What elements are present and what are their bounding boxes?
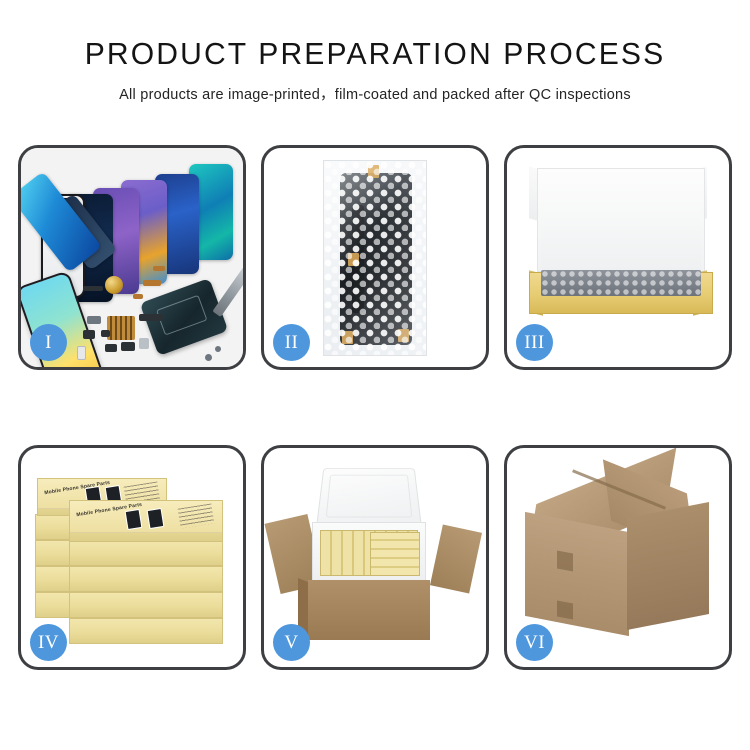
header: PRODUCT PREPARATION PROCESS All products… [0,0,750,104]
step-badge-4: IV [30,624,67,661]
logic-board-icon [107,316,135,340]
process-step-panel-1: I [18,145,246,370]
step-badge-1: I [30,324,67,361]
page-title: PRODUCT PREPARATION PROCESS [11,38,739,71]
stack-box-front-3 [69,566,223,592]
part-connector [133,294,143,299]
carton-flap-right [430,525,482,594]
stack-box-front-4 [69,592,223,618]
part-button [83,330,95,339]
step-6-illustration: VI [507,448,729,667]
box-top-face-front: Mobile Phone Spare Parts [70,501,222,533]
part-flex-cable [143,280,161,286]
process-step-panel-6: VI [504,445,732,670]
process-step-panel-2: II [261,145,489,370]
product-preparation-infographic: PRODUCT PREPARATION PROCESS All products… [0,0,750,750]
stack-box-front-5 [69,618,223,644]
part-antenna [153,266,165,271]
part-screw [205,354,212,361]
white-foam-sheet [541,210,701,272]
box-stack: Mobile Phone Spare Parts Mobile Phone Sp… [35,470,231,650]
foam-box-lid [316,468,422,526]
carton-left-face [525,512,629,636]
part-shield [139,338,149,349]
step-3-illustration: III [507,148,729,367]
part-sim-tray [77,346,86,360]
step-5-illustration: V [264,448,486,667]
page-subtitle: All products are image-printed，film-coat… [0,83,750,104]
bubble-wrap-pouch [323,160,427,356]
process-step-panel-3: III [504,145,732,370]
plastic-sheen [324,161,426,355]
part-ribbon [139,314,163,321]
part-bracket [87,316,101,324]
carton-right-face [627,502,709,630]
part-speaker-bar [83,286,103,291]
part-screw-2 [215,346,221,352]
step-badge-3: III [516,324,553,361]
process-step-grid: I II [18,145,732,670]
step-badge-5: V [273,624,310,661]
carton-tape-upper [557,550,573,571]
part-small-chip [101,330,110,337]
box-spec-lines-front [178,503,215,528]
box-screen-image-4 [147,508,165,529]
process-step-panel-5: V [261,445,489,670]
packed-yellow-boxes-stack [370,532,420,576]
step-1-illustration: I [21,148,243,367]
bubble-wrapped-contents [541,270,701,296]
process-step-panel-4: Mobile Phone Spare Parts Mobile Phone Sp… [18,445,246,670]
step-4-illustration: Mobile Phone Spare Parts Mobile Phone Sp… [21,448,243,667]
box-screen-image-3 [125,509,143,530]
camera-module-icon [105,276,123,294]
stack-box-front-2 [69,540,223,566]
part-module [121,342,135,351]
stack-box-front-top: Mobile Phone Spare Parts [69,500,223,542]
step-badge-2: II [273,324,310,361]
step-2-illustration: II [264,148,486,367]
carton-tape-lower [557,600,573,619]
step-badge-6: VI [516,624,553,661]
carton-front-face [308,580,430,640]
part-chip [105,344,117,352]
